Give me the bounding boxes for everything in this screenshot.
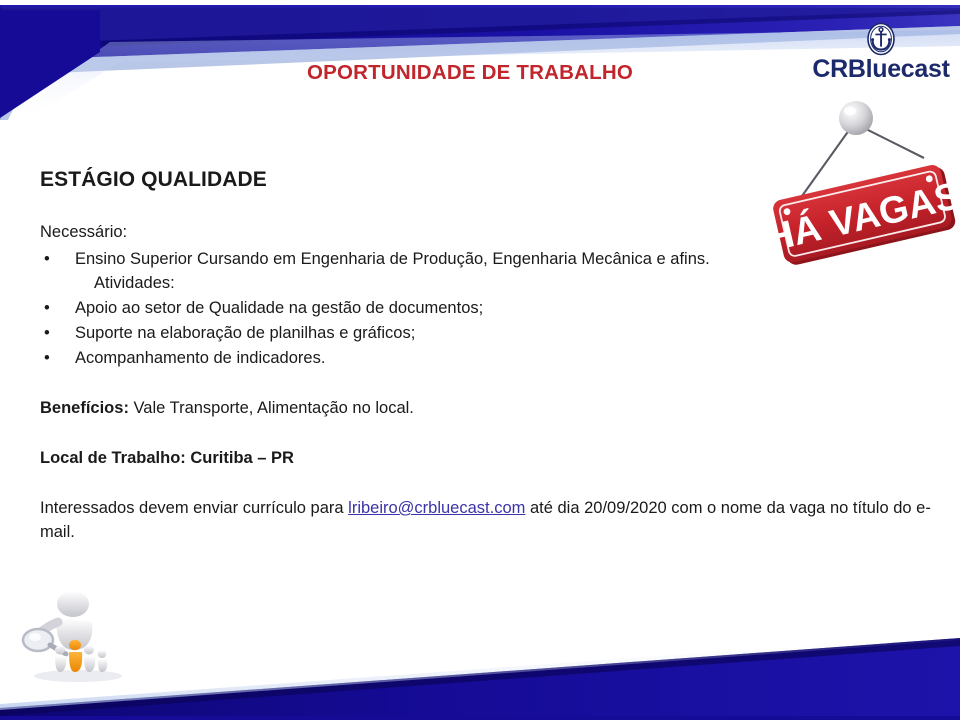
list-item-label: Suporte na elaboração de planilhas e grá… [75,324,415,342]
recruiter-magnifier-figures-icon [18,588,136,684]
apply-email-link[interactable]: lribeiro@crbluecast.com [348,499,525,517]
list-item-label: Acompanhamento de indicadores. [75,349,325,367]
bullet-icon: • [44,322,50,346]
bottom-banner-decoration [0,630,960,720]
bullet-icon: • [44,297,50,321]
company-logo: CRBluecast [810,22,952,82]
bullet-icon: • [44,347,50,371]
page-title: OPORTUNIDADE DE TRABALHO [0,61,940,85]
apply-prefix: Interessados devem enviar currículo para [40,499,348,517]
job-content: ESTÁGIO QUALIDADE Necessário: • Ensino S… [40,168,930,545]
apply-instructions: Interessados devem enviar currículo para… [40,497,933,545]
list-item-label: Ensino Superior Cursando em Engenharia d… [75,250,710,268]
requirements-label: Necessário: [40,221,930,244]
work-location: Local de Trabalho: Curitiba – PR [40,447,930,471]
list-item: • Apoio ao setor de Qualidade na gestão … [40,297,930,321]
activities-list: • Apoio ao setor de Qualidade na gestão … [40,297,930,371]
logo-wordmark: CRBluecast [810,57,952,82]
list-item: • Acompanhamento de indicadores. [40,347,930,371]
anchor-emblem-icon [866,22,896,56]
benefits-label: Benefícios: [40,399,129,417]
bullet-icon: • [44,248,50,272]
list-item: • Ensino Superior Cursando em Engenharia… [40,248,930,272]
requirements-list: • Ensino Superior Cursando em Engenharia… [40,248,930,272]
activities-label: Atividades: [40,272,930,296]
benefits-line: Benefícios: Vale Transporte, Alimentação… [40,397,930,421]
job-title: ESTÁGIO QUALIDADE [40,168,930,191]
benefits-value: Vale Transporte, Alimentação no local. [129,399,414,417]
job-posting-slide: OPORTUNIDADE DE TRABALHO CRBluecast [0,0,960,720]
list-item-label: Apoio ao setor de Qualidade na gestão de… [75,299,483,317]
list-item: • Suporte na elaboração de planilhas e g… [40,322,930,346]
